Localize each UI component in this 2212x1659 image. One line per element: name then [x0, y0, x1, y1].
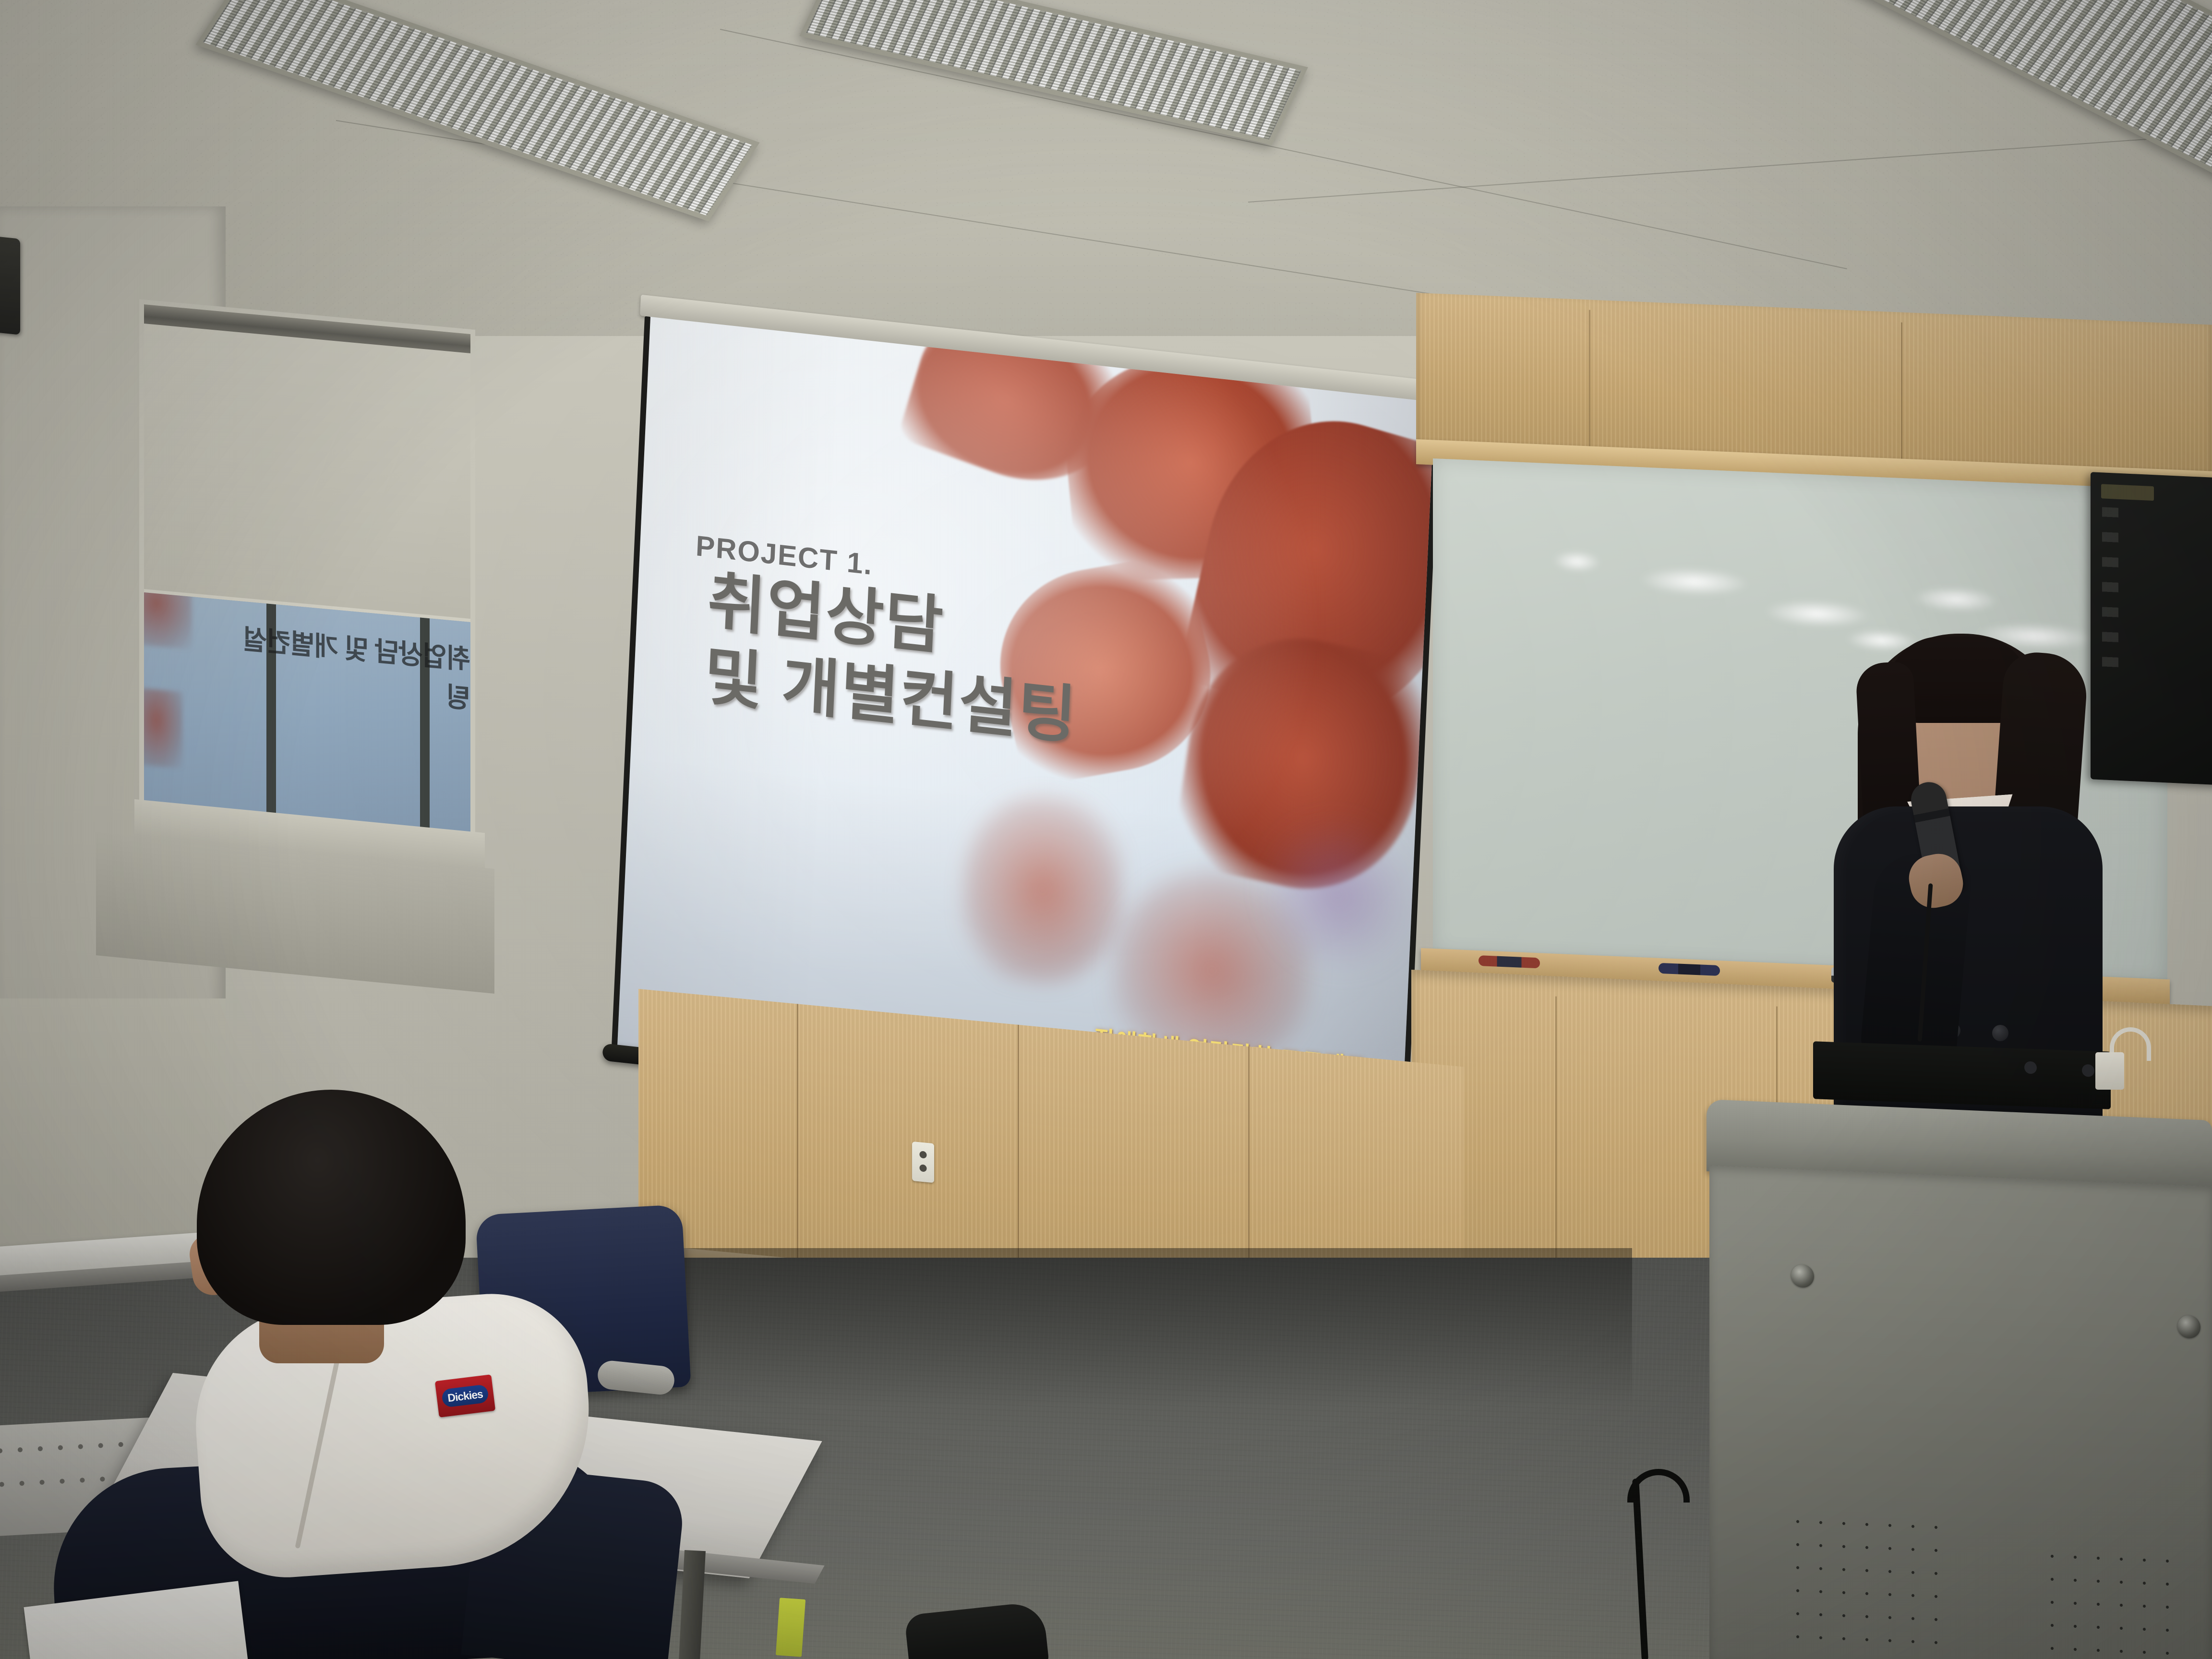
glass-reflection-leaf [144, 592, 192, 649]
dickies-label-text: Dickies [441, 1384, 489, 1407]
desk-warning-sticker [776, 1598, 805, 1657]
power-plug [2095, 1052, 2124, 1090]
lectern-equipment-top [1813, 1041, 2111, 1109]
floor-shadow [624, 1248, 1632, 1407]
lectern-lock[interactable] [2177, 1315, 2200, 1339]
outlet-socket [920, 1151, 927, 1158]
classroom-photo-scene: 취업상담 및 개별컨설팅 PROJECT 1. 취업상담 및 개별컨설팅 [0, 0, 2212, 1659]
dickies-brand-label: Dickies [435, 1374, 495, 1418]
blue-marker[interactable] [1659, 963, 1720, 976]
wood-panel-seam [1901, 322, 1902, 468]
wall-outlet[interactable] [912, 1142, 934, 1183]
maple-bokeh [957, 785, 1128, 994]
lectern-body[interactable] [1709, 1166, 2212, 1659]
av-lectern[interactable] [1707, 1099, 2212, 1659]
lectern-vent-right [2041, 1544, 2185, 1659]
whiteboard-glare [1553, 550, 1601, 573]
whiteboard-glare [1639, 565, 1750, 598]
student-hair [197, 1090, 466, 1325]
equipment-knob[interactable] [2024, 1061, 2037, 1074]
coat-button [1992, 1025, 2008, 1041]
lectern-lock[interactable] [1791, 1264, 1814, 1288]
glass-reflection-leaf [144, 687, 182, 769]
red-marker[interactable] [1479, 955, 1540, 968]
wall-speaker [0, 236, 20, 335]
whiteboard-glare [1913, 585, 1999, 614]
equipment-knob[interactable] [2082, 1064, 2094, 1077]
roller-blind[interactable] [144, 324, 470, 622]
slide-title-block: PROJECT 1. 취업상담 및 개별컨설팅 [688, 529, 1089, 754]
window-frame: 취업상담 및 개별컨설팅 [139, 299, 475, 853]
student-audience-member: Dickies [139, 1090, 706, 1659]
display-brand-logo [2101, 484, 2154, 501]
lectern-vent-left [1786, 1510, 1945, 1659]
wood-panel-seam [1589, 310, 1590, 456]
outlet-socket [920, 1164, 927, 1172]
